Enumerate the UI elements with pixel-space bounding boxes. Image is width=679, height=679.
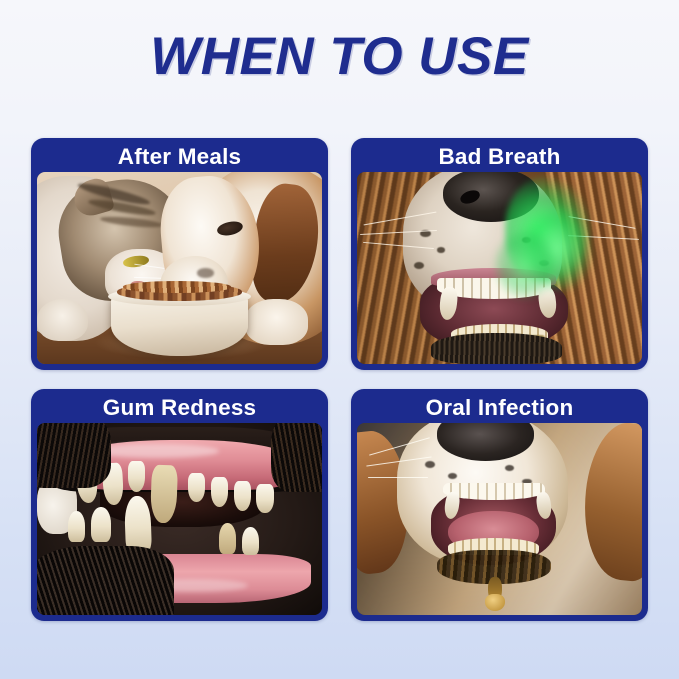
card-photo-oral-infection bbox=[357, 423, 642, 615]
black-fur-top-right bbox=[271, 423, 322, 492]
card-title-oral-infection: Oral Infection bbox=[426, 395, 574, 421]
card-header-after-meals: After Meals bbox=[31, 138, 328, 176]
muzzle-speck bbox=[448, 473, 457, 479]
condition-card-grid: After Meals bbox=[31, 138, 648, 633]
scene-dog-bad-breath bbox=[357, 172, 642, 364]
page-title: WHEN TO USE bbox=[0, 30, 679, 83]
card-photo-gum-redness bbox=[37, 423, 322, 615]
tooth bbox=[188, 473, 205, 502]
black-fur-bottom-left bbox=[37, 546, 174, 615]
cat-paw bbox=[37, 299, 88, 341]
green-breath-smoke bbox=[494, 230, 557, 299]
dog-whisker bbox=[368, 477, 428, 478]
kibble-food bbox=[123, 281, 231, 293]
card-title-gum-redness: Gum Redness bbox=[103, 395, 257, 421]
condition-card-gum-redness[interactable]: Gum Redness bbox=[31, 389, 328, 621]
tooth bbox=[219, 523, 236, 554]
scene-cat-and-dog-eating bbox=[37, 172, 322, 364]
tooth bbox=[68, 511, 85, 542]
card-header-oral-infection: Oral Infection bbox=[351, 389, 648, 427]
muzzle-spot bbox=[414, 262, 424, 269]
card-title-bad-breath: Bad Breath bbox=[438, 144, 560, 170]
card-photo-after-meals bbox=[37, 172, 322, 364]
condition-card-oral-infection[interactable]: Oral Infection bbox=[351, 389, 648, 621]
tooth bbox=[211, 477, 228, 508]
dog-paw bbox=[245, 299, 308, 345]
tooth bbox=[91, 507, 111, 542]
tooth bbox=[256, 484, 273, 513]
card-header-bad-breath: Bad Breath bbox=[351, 138, 648, 176]
scene-oral-infection bbox=[357, 423, 642, 615]
tooth bbox=[234, 481, 251, 512]
card-header-gum-redness: Gum Redness bbox=[31, 389, 328, 427]
gum-highlight bbox=[94, 444, 219, 457]
muzzle-spot bbox=[437, 247, 446, 253]
muzzle-speck bbox=[505, 465, 514, 471]
condition-card-after-meals[interactable]: After Meals bbox=[31, 138, 328, 370]
dog-chin-fur bbox=[431, 333, 562, 364]
black-fur-top-left bbox=[37, 423, 111, 488]
card-title-after-meals: After Meals bbox=[118, 144, 242, 170]
card-photo-bad-breath bbox=[357, 172, 642, 364]
scene-inflamed-gums bbox=[37, 423, 322, 615]
dog-snout-spot bbox=[197, 268, 214, 278]
condition-card-bad-breath[interactable]: Bad Breath bbox=[351, 138, 648, 370]
tooth bbox=[242, 527, 259, 556]
